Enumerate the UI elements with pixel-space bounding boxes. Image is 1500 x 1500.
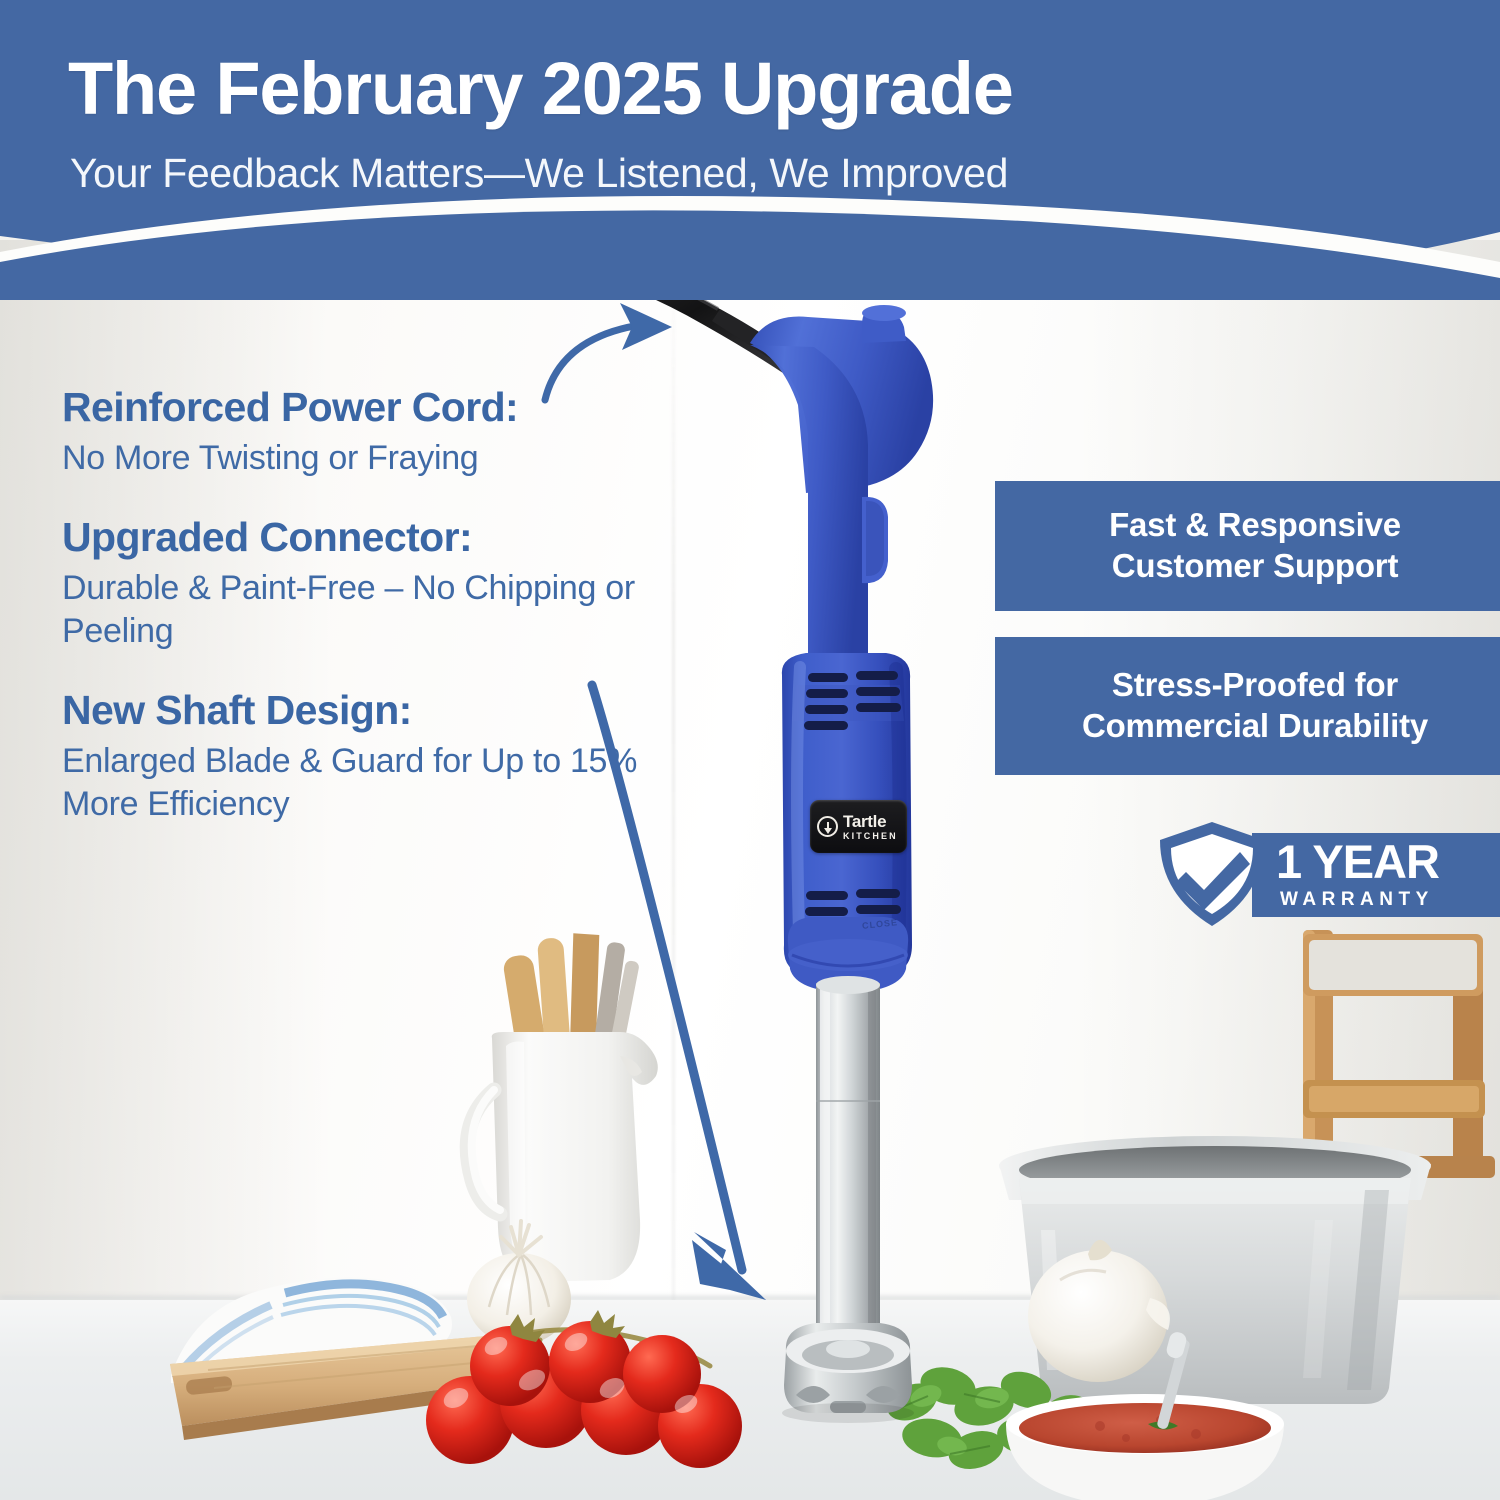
badge-commercial-durability: Stress-Proofed for Commercial Durability <box>995 637 1500 775</box>
feature-list: Reinforced Power Cord: No More Twisting … <box>62 385 682 861</box>
badge-customer-support: Fast & Responsive Customer Support <box>995 481 1500 611</box>
brand-name: Tartle <box>843 813 898 830</box>
feature-item-cord: Reinforced Power Cord: No More Twisting … <box>62 385 682 479</box>
warranty-label: WARRANTY <box>1280 890 1500 909</box>
badge-line-1: Stress-Proofed for <box>1112 666 1398 703</box>
badge-line-2: Commercial Durability <box>1082 707 1428 744</box>
shield-check-icon <box>1152 818 1272 930</box>
feature-title: Reinforced Power Cord: <box>62 385 682 431</box>
feature-desc: No More Twisting or Fraying <box>62 437 682 480</box>
feature-desc: Durable & Paint-Free – No Chipping or Pe… <box>62 567 682 652</box>
badge-line-2: Customer Support <box>1112 547 1398 584</box>
feature-desc: Enlarged Blade & Guard for Up to 15% Mor… <box>62 740 682 825</box>
brand-sub: KITCHEN <box>843 832 898 841</box>
feature-title: Upgraded Connector: <box>62 515 682 561</box>
tartle-anchor-icon <box>817 816 838 837</box>
infographic-canvas: Tartle KITCHEN CLOSE The February 2025 U… <box>0 0 1500 1500</box>
feature-item-connector: Upgraded Connector: Durable & Paint-Free… <box>62 515 682 652</box>
warranty-duration: 1 YEAR <box>1276 838 1500 885</box>
brand-plate: Tartle KITCHEN <box>810 800 907 853</box>
tomato-soup-bowl <box>1000 1390 1290 1500</box>
feature-title: New Shaft Design: <box>62 688 682 734</box>
warranty-badge: 1 YEAR WARRANTY <box>1152 818 1500 930</box>
badge-line-1: Fast & Responsive <box>1109 506 1401 543</box>
feature-item-shaft: New Shaft Design: Enlarged Blade & Guard… <box>62 688 682 825</box>
